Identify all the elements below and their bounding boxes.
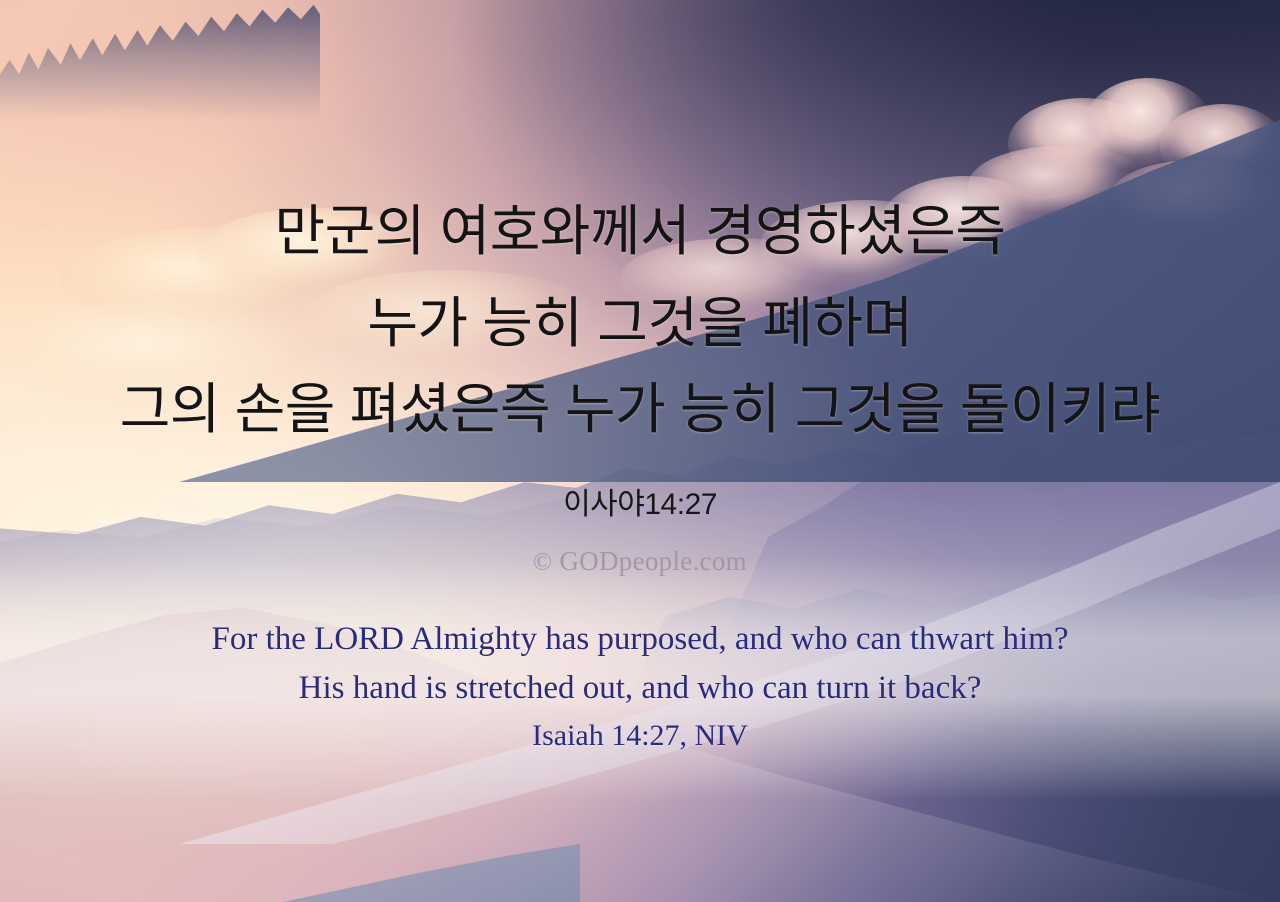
watermark-label: GODpeople.com [559,546,747,576]
watermark: © GODpeople.com [0,548,1280,575]
copyright-icon: © [533,550,552,575]
english-verse-line-2: His hand is stretched out, and who can t… [0,672,1280,705]
english-verse-reference: Isaiah 14:27, NIV [0,721,1280,751]
korean-verse-line-1: 만군의 여호와께서 경영하셨은즉 [0,204,1280,259]
verse-card: 만군의 여호와께서 경영하셨은즉 누가 능히 그것을 폐하며 그의 손을 펴셨은… [0,0,1280,902]
korean-verse-line-3: 그의 손을 펴셨은즉 누가 능히 그것을 돌이키랴 [0,382,1280,437]
verse-text-layer: 만군의 여호와께서 경영하셨은즉 누가 능히 그것을 폐하며 그의 손을 펴셨은… [0,0,1280,902]
korean-verse-line-2: 누가 능히 그것을 폐하며 [0,296,1280,351]
korean-verse-reference: 이사야14:27 [0,490,1280,520]
english-verse-line-1: For the LORD Almighty has purposed, and … [0,623,1280,656]
